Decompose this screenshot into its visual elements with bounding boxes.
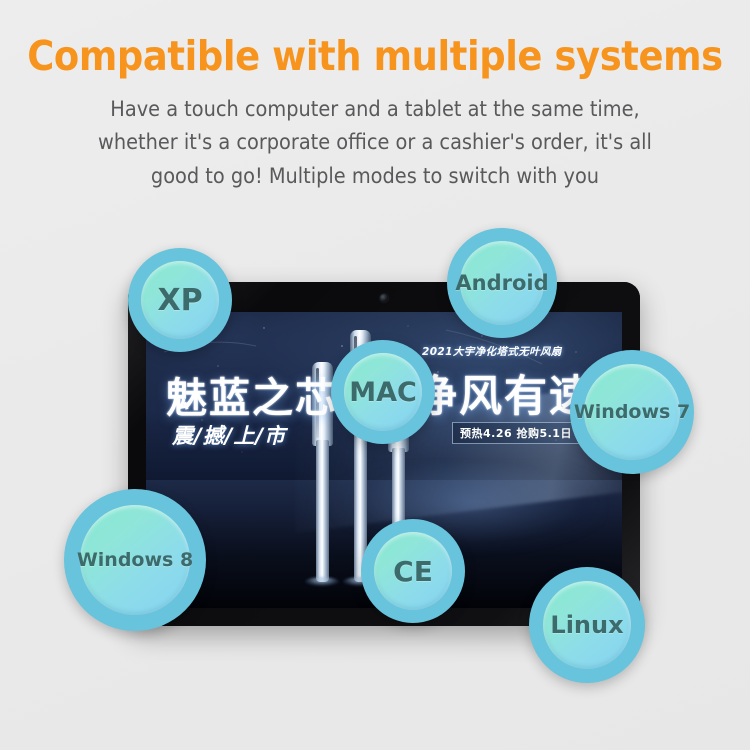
ad-subheadline: 震/撼/上/市 [172,420,286,450]
promo-page: Compatible with multiple systems Have a … [0,0,750,750]
front-camera-icon [380,294,388,302]
os-badge-linux[interactable]: Linux [529,567,645,683]
os-badge-core-xp: XP [141,261,219,339]
subtitle-line-2: whether it's a corporate office or a cas… [55,126,695,159]
subtitle-line-1: Have a touch computer and a tablet at th… [55,93,695,126]
os-badge-windows-8[interactable]: Windows 8 [64,489,206,631]
ad-top-line: 2021大宇净化塔式无叶风扇 [422,344,562,359]
os-badge-label-linux: Linux [550,611,623,639]
ad-promo-badge: 预热4.26 抢购5.1日 [452,422,580,444]
os-badge-ce[interactable]: CE [361,519,465,623]
os-badge-label-mac: MAC [349,377,417,408]
os-badge-label-android: Android [455,271,548,295]
ad-headline-right: 净风有速 [414,362,594,424]
os-badge-core-windows-8: Windows 8 [80,505,190,615]
os-badge-label-windows-8: Windows 8 [77,549,193,571]
os-badge-xp[interactable]: XP [128,248,232,352]
os-badge-label-xp: XP [157,283,202,318]
page-title: Compatible with multiple systems [0,0,750,79]
os-badge-core-ce: CE [374,532,452,610]
os-badge-core-android: Android [460,241,544,325]
os-badge-android[interactable]: Android [447,228,557,338]
os-badge-core-mac: MAC [344,353,422,431]
os-badge-label-ce: CE [393,555,433,588]
os-badge-core-linux: Linux [543,581,631,669]
os-badge-core-windows-7: Windows 7 [584,364,680,460]
os-badge-label-windows-7: Windows 7 [574,401,690,423]
subtitle-line-3: good to go! Multiple modes to switch wit… [55,160,695,193]
ad-headline-left: 魅蓝之芯 [166,364,338,424]
os-badge-windows-7[interactable]: Windows 7 [570,350,694,474]
page-subtitle: Have a touch computer and a tablet at th… [55,79,695,193]
os-badge-mac[interactable]: MAC [331,340,435,444]
header: Compatible with multiple systems Have a … [0,0,750,193]
